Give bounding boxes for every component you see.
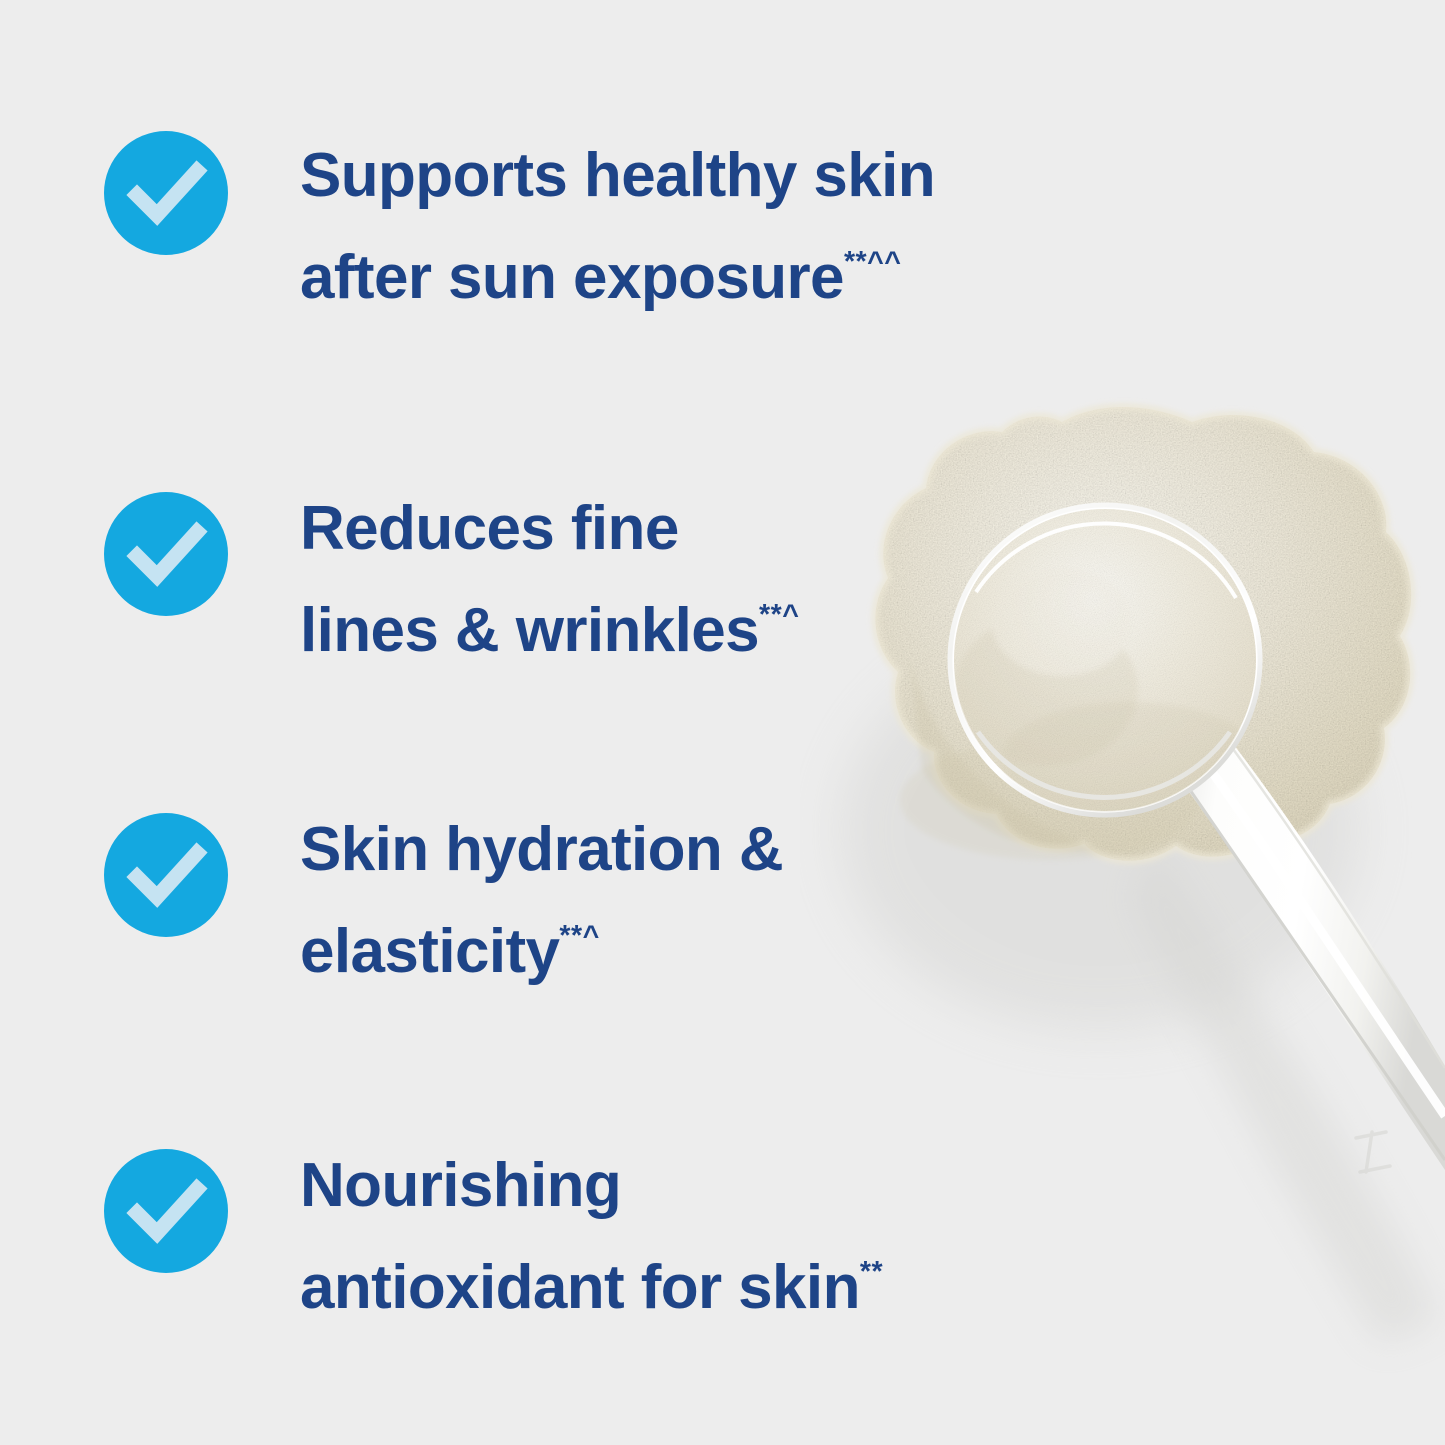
benefit-text: Nourishing antioxidant for skin**: [300, 1143, 883, 1331]
benefit-footnote: **^: [759, 599, 799, 631]
check-circle-icon: [104, 813, 228, 937]
benefit-line-1: Supports healthy skin: [300, 141, 935, 210]
benefit-line-1: Skin hydration &: [300, 815, 783, 884]
check-circle-icon: [104, 492, 228, 616]
benefit-footnote: **^: [559, 920, 599, 952]
benefit-text: Skin hydration & elasticity**^: [300, 807, 783, 995]
product-benefits-graphic: Supports healthy skin after sun exposure…: [0, 0, 1445, 1445]
check-circle-icon: [104, 1149, 228, 1273]
benefit-item: Supports healthy skin after sun exposure…: [0, 131, 1000, 321]
benefit-footnote: **: [860, 1256, 883, 1288]
benefit-item: Nourishing antioxidant for skin**: [0, 1149, 1000, 1331]
benefit-line-2: lines & wrinkles: [300, 596, 759, 665]
benefit-text: Reduces fine lines & wrinkles**^: [300, 486, 799, 674]
benefit-footnote: **^^: [844, 246, 902, 278]
benefit-item: Reduces fine lines & wrinkles**^: [0, 492, 1000, 674]
benefit-line-2: elasticity: [300, 917, 559, 986]
benefit-text: Supports healthy skin after sun exposure…: [300, 133, 935, 321]
benefits-list: Supports healthy skin after sun exposure…: [0, 0, 1000, 1445]
benefit-line-1: Reduces fine: [300, 494, 679, 563]
check-circle-icon: [104, 131, 228, 255]
benefit-line-2: after sun exposure: [300, 243, 844, 312]
benefit-line-1: Nourishing: [300, 1151, 621, 1220]
benefit-line-2: antioxidant for skin: [300, 1253, 860, 1322]
benefit-item: Skin hydration & elasticity**^: [0, 813, 1000, 995]
